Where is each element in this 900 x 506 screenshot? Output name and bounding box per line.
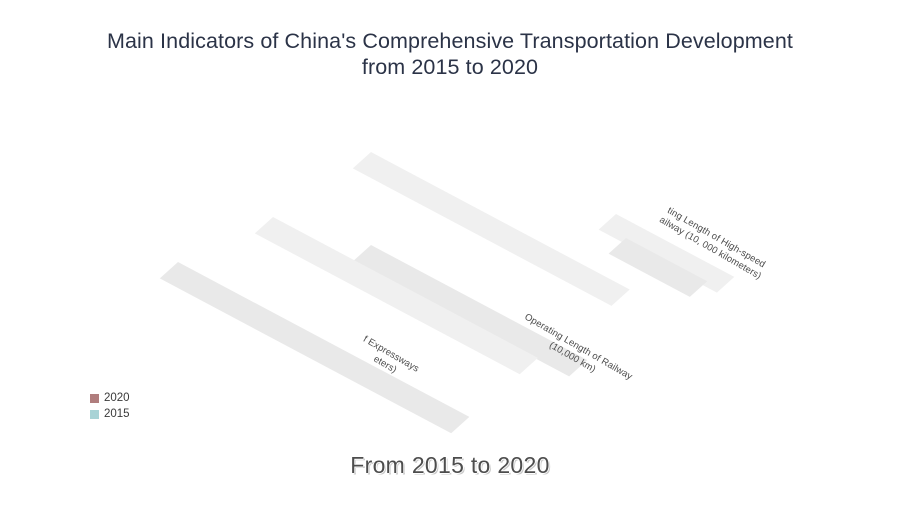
chart-plot-area: ting Length of High-speed ailway (10, 00… [0, 0, 900, 506]
axis-title-x: From 2015 to 2020 [0, 452, 900, 479]
legend-label-2020: 2020 [104, 392, 130, 405]
legend-swatch-2015 [90, 410, 99, 419]
legend-item-2015[interactable]: 2015 [90, 407, 130, 421]
slide-canvas: Main Indicators of China's Comprehensive… [0, 0, 900, 506]
chart-legend: 2020 2015 [90, 391, 130, 421]
legend-swatch-2020 [90, 394, 99, 403]
legend-label-2015: 2015 [104, 408, 130, 421]
legend-item-2020[interactable]: 2020 [90, 391, 130, 405]
